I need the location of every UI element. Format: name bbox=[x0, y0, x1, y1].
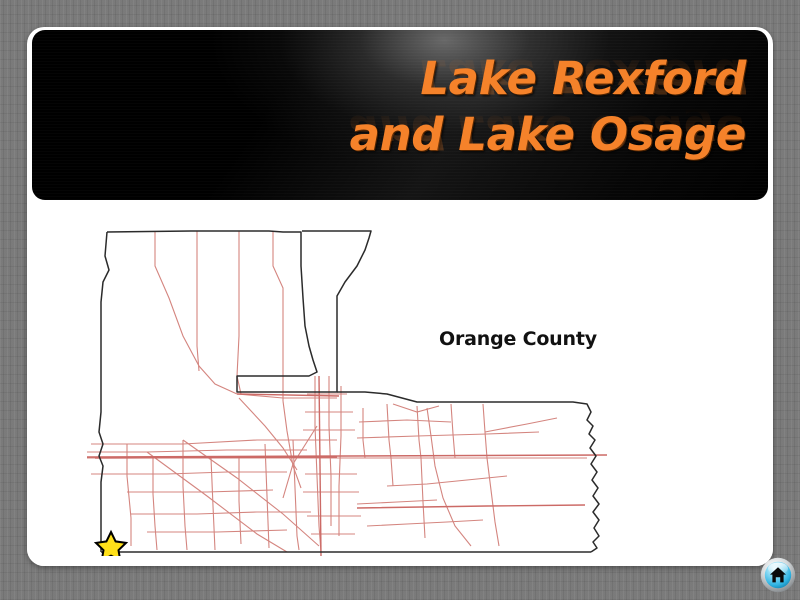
home-button[interactable] bbox=[760, 557, 796, 593]
county-road-map bbox=[87, 226, 607, 556]
slide-title: Lake Rexford Lake Rexford and Lake Osage… bbox=[350, 52, 746, 164]
title-line-1: Lake Rexford bbox=[350, 52, 746, 106]
major-highways bbox=[87, 376, 607, 556]
title-line-2-wrap: and Lake Osage and Lake Osage bbox=[350, 108, 746, 164]
map-caption-label: Orange County bbox=[439, 328, 597, 350]
title-line-2: and Lake Osage bbox=[350, 108, 746, 162]
county-outline bbox=[99, 231, 599, 552]
presentation-slide: Lake Rexford Lake Rexford and Lake Osage… bbox=[27, 27, 773, 566]
title-banner: Lake Rexford Lake Rexford and Lake Osage… bbox=[32, 30, 768, 200]
title-line-1-wrap: Lake Rexford Lake Rexford bbox=[350, 52, 746, 108]
slide-content: Orange County bbox=[27, 202, 773, 566]
